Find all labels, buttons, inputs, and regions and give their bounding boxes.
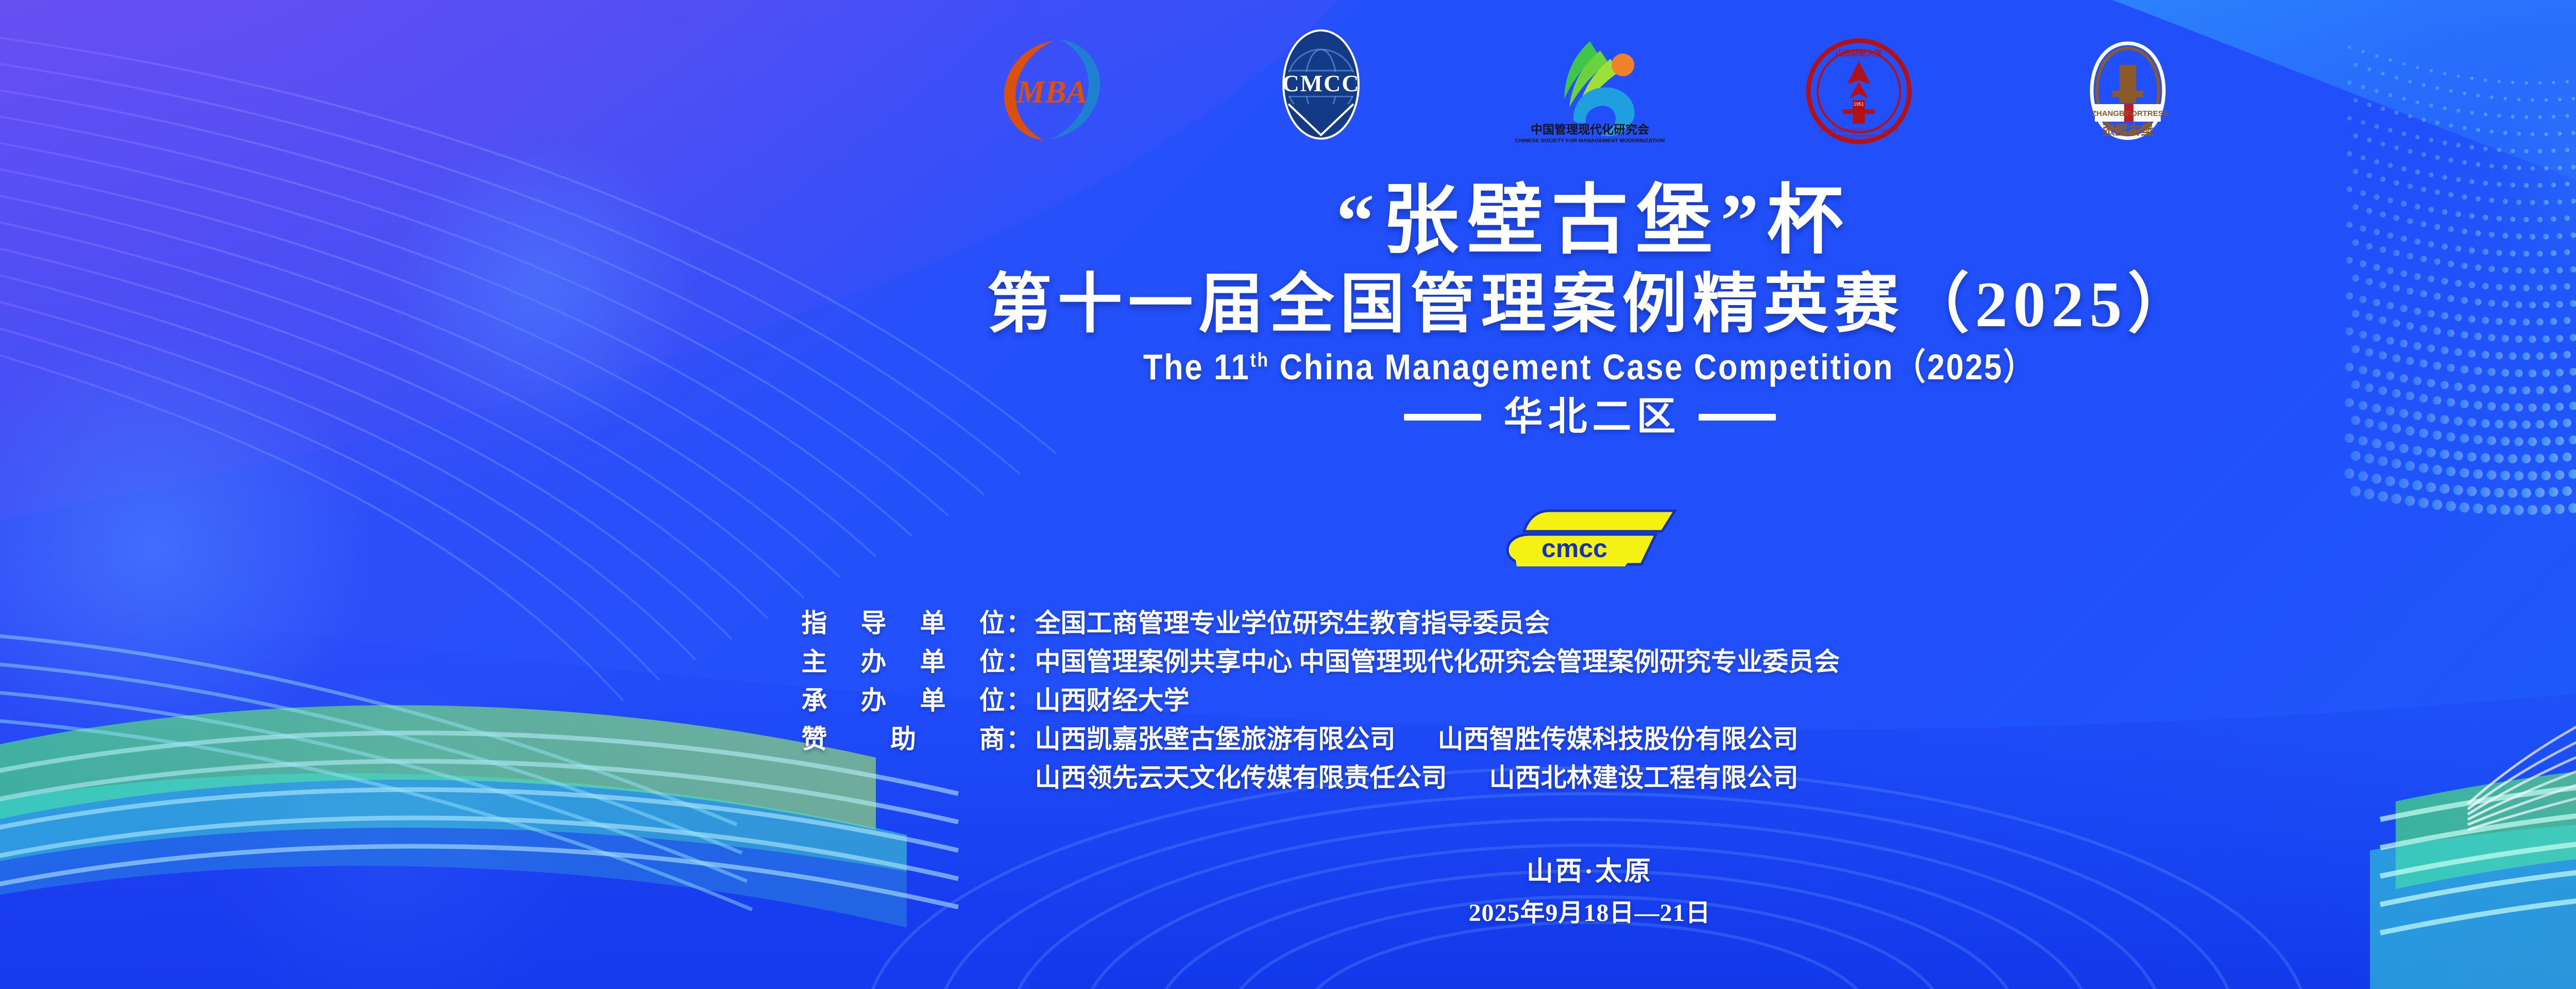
main-title-competition: 第十一届全国管理案例精英赛（2025） xyxy=(0,273,2576,338)
sponsor-name-2: 山西智胜传媒科技股份有限公司 xyxy=(1438,725,1799,753)
organization-label: 指导单位 xyxy=(802,606,1005,641)
footer-block: 山西·太原 2025年9月18日—21日 xyxy=(0,859,2576,926)
zhangbi-fortress-logo: ZHANGBI FORTRESS 张壁古堡 xyxy=(2050,27,2205,145)
sponsor-name-4: 山西北林建设工程有限公司 xyxy=(1489,763,1799,792)
svg-text:CHINESE SOCIETY FOR MANAGEMENT: CHINESE SOCIETY FOR MANAGEMENT MODERNIZA… xyxy=(1515,138,1665,144)
event-dates: 2025年9月18日—21日 xyxy=(0,901,2576,926)
organization-value: 全国工商管理专业学位研究生教育指导委员会 xyxy=(1035,606,1550,641)
svg-text:FORTRESS: FORTRESS xyxy=(2126,109,2168,118)
organization-colon: ： xyxy=(1005,644,1035,680)
organization-list: 指导单位 ： 全国工商管理专业学位研究生教育指导委员会 主办单位 ： 中国管理案… xyxy=(0,606,2576,796)
organization-label: 赞助商 xyxy=(802,722,1005,757)
svg-text:中国管理现代化研究会: 中国管理现代化研究会 xyxy=(1531,123,1649,136)
organization-value: 山西凯嘉张壁古堡旅游有限公司山西智胜传媒科技股份有限公司 xyxy=(1035,722,1799,757)
sponsor-name-3: 山西领先云天文化传媒有限责任公司 xyxy=(1035,763,1447,792)
organization-label: 主办单位 xyxy=(802,644,1005,680)
english-subtitle-post: China Management Case Competition（2025） xyxy=(1269,347,2036,387)
csmm-logo: 中国管理现代化研究会 CHINESE SOCIETY FOR MANAGEMEN… xyxy=(1513,27,1667,145)
svg-text:山西财经大学: 山西财经大学 xyxy=(1835,48,1882,58)
svg-text:1951: 1951 xyxy=(1853,102,1863,107)
main-title-cup: “张壁古堡”杯 xyxy=(0,183,2576,259)
svg-text:AND ECONOMICS: AND ECONOMICS xyxy=(1838,134,1879,140)
mba-logo: MBA xyxy=(975,27,1129,145)
organization-row-sponsor: 赞助商 ： 山西凯嘉张壁古堡旅游有限公司山西智胜传媒科技股份有限公司 xyxy=(802,722,2378,757)
region-rule-right xyxy=(1699,414,1776,421)
organization-row-sponsor-continued: 赞助商 ： 山西领先云天文化传媒有限责任公司山西北林建设工程有限公司 xyxy=(802,760,2378,796)
organization-colon: ： xyxy=(1005,606,1035,641)
sponsor-name-1: 山西凯嘉张壁古堡旅游有限公司 xyxy=(1035,725,1396,753)
region-line: 华北二区 xyxy=(0,397,2576,437)
cmcc-round-logo: CMCC xyxy=(1244,27,1398,145)
organization-row-organizer: 承办单位 ： 山西财经大学 xyxy=(802,683,2378,718)
organization-value: 山西财经大学 xyxy=(1035,683,1190,718)
organization-colon: ： xyxy=(1005,722,1035,757)
svg-text:CMCC: CMCC xyxy=(1282,70,1360,96)
english-subtitle-pre: The 11 xyxy=(1143,347,1250,387)
svg-text:SHANXI UNIVERSITY OF FINANCE: SHANXI UNIVERSITY OF FINANCE xyxy=(1819,128,1899,133)
poster-canvas: MBA CMCC xyxy=(0,0,2576,989)
sxufe-seal-logo: 山西财经大学 SHANXI UNIVERSITY OF FINANCE AND … xyxy=(1782,27,1936,145)
region-rule-left xyxy=(1404,414,1481,421)
organization-label: 承办单位 xyxy=(802,683,1005,718)
svg-text:张壁古堡: 张壁古堡 xyxy=(2102,123,2153,138)
cmcc-yellow-logo: cmcc xyxy=(0,508,2576,568)
region-label: 华北二区 xyxy=(1499,397,1681,437)
english-subtitle: The 11th China Management Case Competiti… xyxy=(191,349,2576,385)
organization-value: 中国管理案例共享中心 中国管理现代化研究会管理案例研究专业委员会 xyxy=(1035,644,1840,680)
event-location: 山西·太原 xyxy=(0,859,2576,885)
english-subtitle-ordinal: th xyxy=(1250,349,1269,372)
organization-row-guidance: 指导单位 ： 全国工商管理专业学位研究生教育指导委员会 xyxy=(802,606,2378,641)
svg-text:ZHANGBI: ZHANGBI xyxy=(2091,109,2126,118)
organization-value: 山西领先云天文化传媒有限责任公司山西北林建设工程有限公司 xyxy=(1035,760,1799,796)
title-block: “张壁古堡”杯 第十一届全国管理案例精英赛（2025） The 11th Chi… xyxy=(0,183,2576,437)
organization-row-host: 主办单位 ： 中国管理案例共享中心 中国管理现代化研究会管理案例研究专业委员会 xyxy=(802,644,2378,680)
organization-colon: ： xyxy=(1005,683,1035,718)
cmcc-yellow-logo-text: cmcc xyxy=(1541,534,1607,563)
svg-text:MBA: MBA xyxy=(1016,75,1088,110)
logo-row: MBA CMCC xyxy=(0,27,2576,145)
